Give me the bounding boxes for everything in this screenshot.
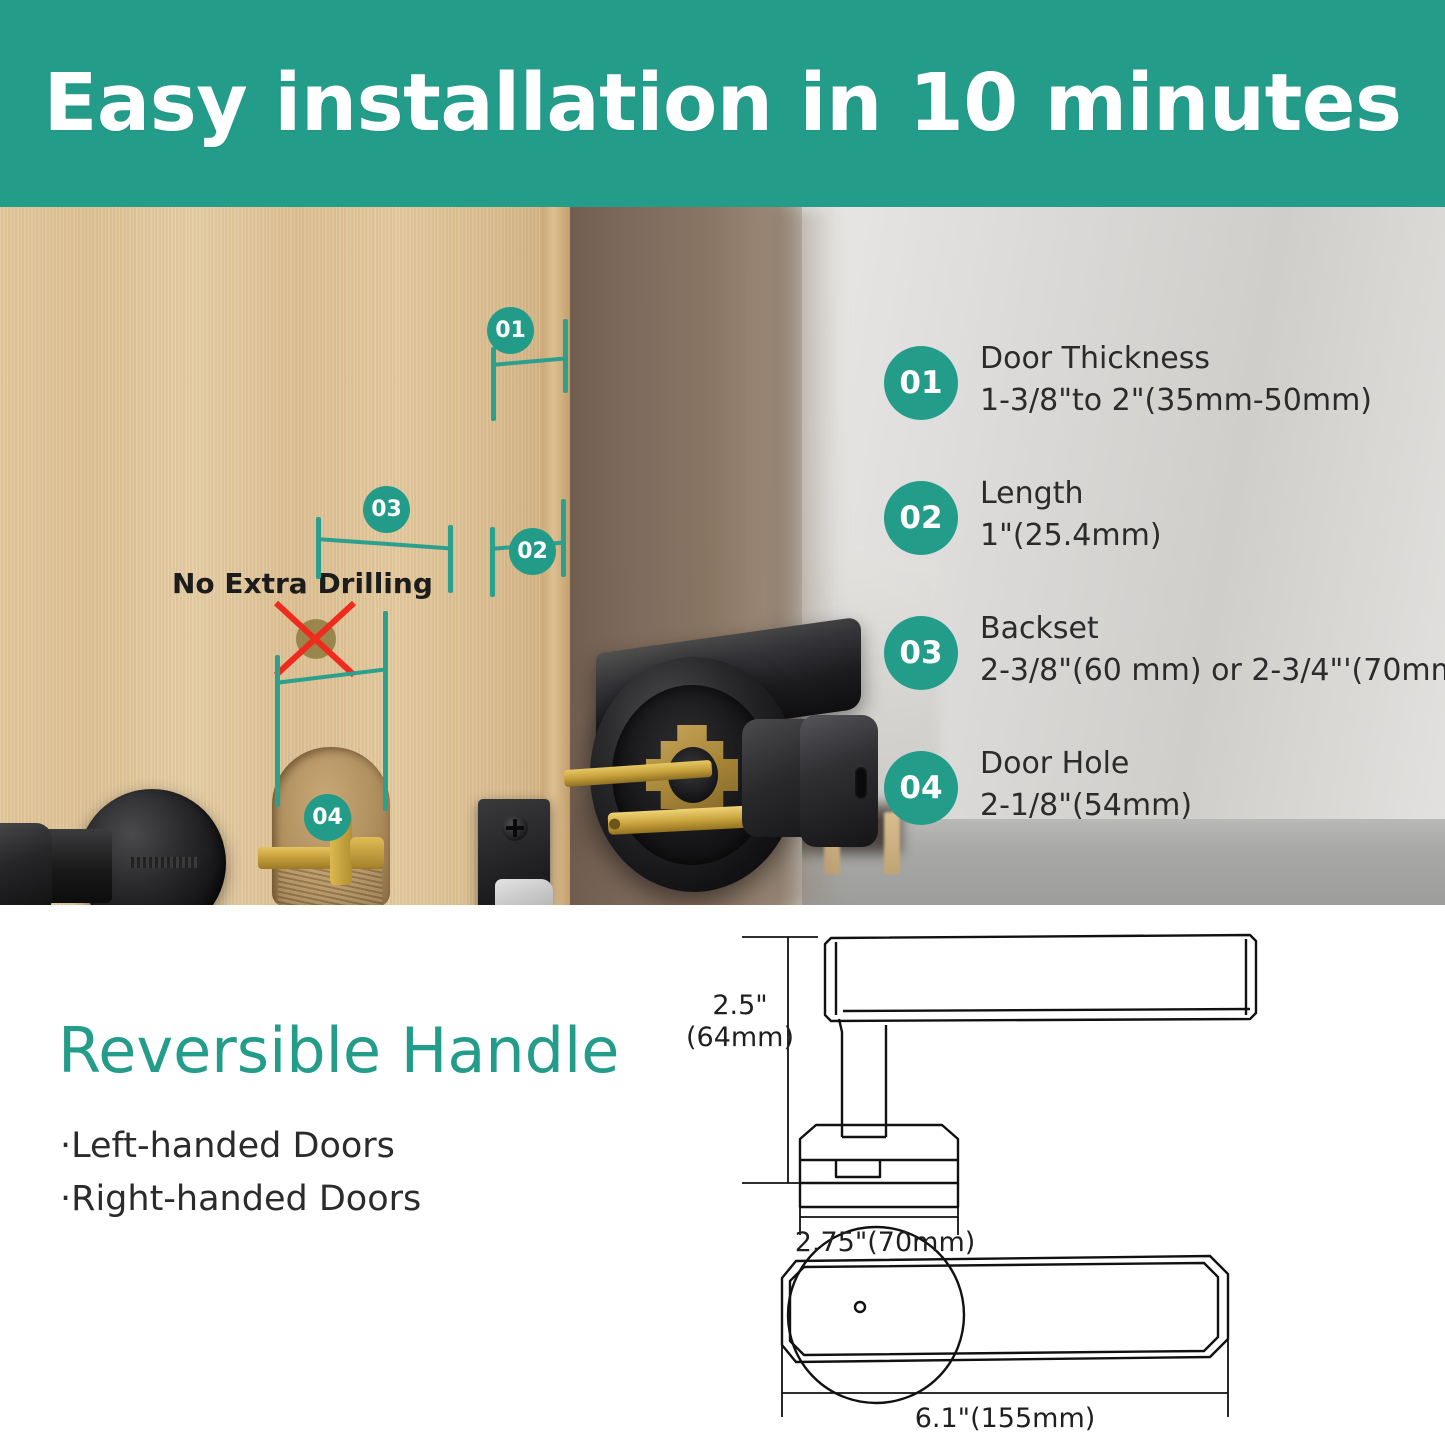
spec-row: 01 Door Thickness 1-3/8"to 2"(35mm-50mm) — [884, 340, 1429, 475]
list-item: ·Right-handed Doors — [60, 1173, 421, 1226]
header-banner: Easy installation in 10 minutes — [0, 0, 1445, 207]
callout-badge-02: 02 — [509, 528, 556, 575]
brass-nub — [350, 837, 384, 867]
spec-badge-01: 01 — [884, 346, 958, 420]
spec-value: 2-1/8"(54mm) — [980, 787, 1192, 825]
callout-badge-04: 04 — [304, 794, 351, 841]
height-label-inches: 2.5" — [712, 990, 767, 1021]
spec-row: 02 Length 1"(25.4mm) — [884, 475, 1429, 610]
spec-text-block: Door Thickness 1-3/8"to 2"(35mm-50mm) — [980, 340, 1372, 421]
callout-badge-03: 03 — [363, 486, 410, 533]
knob-head — [0, 823, 52, 905]
spec-badge-04: 04 — [884, 751, 958, 825]
infographic-page: Easy installation in 10 minutes — [0, 0, 1445, 1445]
spec-text-block: Door Hole 2-1/8"(54mm) — [980, 745, 1192, 826]
page-title: Easy installation in 10 minutes — [43, 64, 1401, 143]
spec-title: Backset — [980, 610, 1445, 648]
spec-badge-03: 03 — [884, 616, 958, 690]
dim-tick-02-right — [561, 499, 566, 577]
latch-bolt — [495, 879, 553, 905]
height-label-mm: (64mm) — [686, 1022, 794, 1053]
no-extra-drilling-label: No Extra Drilling — [172, 567, 433, 600]
mounting-screw — [128, 857, 200, 868]
usb-c-port-icon — [855, 767, 867, 799]
dim-tick-01-left — [491, 347, 496, 421]
spec-value: 2-3/8"(60 mm) or 2-3/4"'(70mm) — [980, 652, 1445, 690]
dim-tick-04-right — [383, 611, 388, 811]
dim-tick-03-right — [448, 525, 453, 593]
spec-value: 1-3/8"to 2"(35mm-50mm) — [980, 382, 1372, 420]
technical-drawings: 2.5" (64mm) 2.75"(70mm) 6.1"(155mm) — [690, 915, 1390, 1445]
spec-title: Door Hole — [980, 745, 1192, 783]
callout-badge-01: 01 — [487, 307, 534, 354]
spec-row: 03 Backset 2-3/8"(60 mm) or 2-3/4"'(70mm… — [884, 610, 1429, 745]
reversible-handle-title: Reversible Handle — [58, 1020, 619, 1082]
reversible-handle-list: ·Left-handed Doors ·Right-handed Doors — [60, 1120, 421, 1226]
dim-tick-03-left — [316, 517, 321, 579]
red-x-icon — [270, 597, 360, 681]
specification-list: 01 Door Thickness 1-3/8"to 2"(35mm-50mm)… — [884, 340, 1429, 880]
length-dimension-label: 6.1"(155mm) — [885, 1403, 1125, 1435]
spec-text-block: Length 1"(25.4mm) — [980, 475, 1162, 556]
spec-text-block: Backset 2-3/8"(60 mm) or 2-3/4"'(70mm) — [980, 610, 1445, 691]
spec-badge-02: 02 — [884, 481, 958, 555]
list-item: ·Left-handed Doors — [60, 1120, 421, 1173]
spec-value: 1"(25.4mm) — [980, 517, 1162, 555]
spec-title: Length — [980, 475, 1162, 513]
width-dimension-label: 2.75"(70mm) — [775, 1227, 995, 1259]
height-dimension-label: 2.5" (64mm) — [670, 990, 810, 1054]
dim-tick-02-left — [490, 527, 495, 597]
dim-tick-04-left — [275, 655, 280, 807]
spec-title: Door Thickness — [980, 340, 1372, 378]
spec-row: 04 Door Hole 2-1/8"(54mm) — [884, 745, 1429, 880]
phillips-screw-icon — [502, 815, 528, 841]
